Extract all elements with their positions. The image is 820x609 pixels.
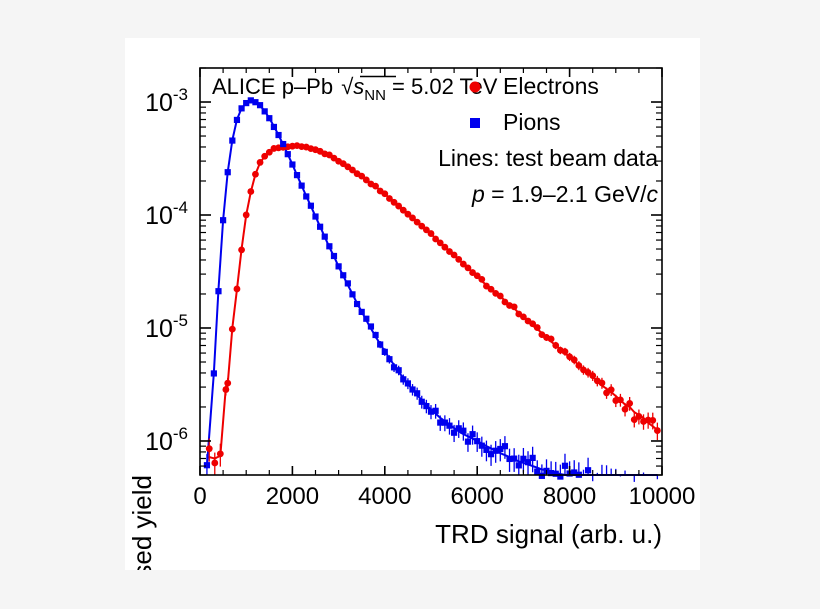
y-tick-exponent: -3 — [173, 85, 188, 104]
x-tick-label: 0 — [193, 483, 206, 510]
data-point — [349, 291, 355, 297]
data-point — [511, 456, 517, 462]
data-point — [414, 390, 420, 396]
x-tick-label: 2000 — [266, 483, 319, 510]
data-point — [363, 316, 369, 322]
data-point — [299, 183, 305, 189]
data-point — [243, 212, 250, 219]
data-point — [354, 301, 360, 307]
data-point — [247, 188, 254, 195]
data-point — [312, 213, 318, 219]
data-point — [516, 462, 522, 468]
data-point — [585, 467, 591, 473]
data-point — [217, 450, 224, 457]
x-tick-label: 8000 — [543, 483, 596, 510]
legend-marker-pions — [470, 118, 480, 128]
data-point — [608, 386, 615, 393]
x-tick-label: 10000 — [629, 483, 696, 510]
data-point — [423, 403, 429, 409]
energy-text: = 5.02 TeV — [386, 74, 498, 99]
lines-note: Lines: test beam data — [438, 145, 658, 171]
x-tick-label: 6000 — [451, 483, 504, 510]
y-tick-exponent: -6 — [173, 424, 188, 443]
y-tick-label: 10-3 — [145, 85, 188, 117]
data-point — [262, 108, 268, 114]
data-point — [229, 137, 235, 143]
figure-root: 020004000600080001000010-310-410-510-6TR… — [0, 0, 820, 609]
data-point — [622, 406, 629, 413]
data-point — [530, 455, 536, 461]
y-tick-label: 10-5 — [145, 311, 188, 343]
data-point — [326, 243, 332, 249]
data-point — [589, 372, 596, 379]
data-point — [266, 115, 272, 121]
chart-svg: 020004000600080001000010-310-410-510-6TR… — [125, 38, 700, 570]
data-point — [289, 161, 295, 167]
data-point — [377, 341, 383, 347]
data-point — [562, 348, 569, 355]
data-point — [372, 332, 378, 338]
data-point — [220, 217, 226, 223]
momentum-note: p = 1.9–2.1 GeV/c — [471, 181, 659, 207]
s-symbol: s — [353, 74, 364, 99]
data-point — [224, 380, 231, 387]
data-point — [234, 117, 240, 123]
s-subscript: NN — [364, 87, 386, 104]
data-point — [359, 309, 365, 315]
data-point — [368, 323, 374, 329]
y-axis-title: Normalised yield — [127, 475, 157, 570]
data-point — [234, 286, 241, 293]
data-point — [345, 280, 351, 286]
system-label-text: ALICE p–Pb — [212, 74, 339, 99]
y-tick-label: 10-4 — [145, 198, 188, 230]
data-point — [465, 439, 471, 445]
y-tick-exponent: -5 — [173, 311, 188, 330]
data-point — [649, 417, 656, 424]
data-point — [340, 272, 346, 278]
momentum-symbol: p — [471, 181, 485, 207]
data-point — [317, 224, 323, 230]
legend-label-pions: Pions — [503, 109, 561, 135]
data-point — [215, 288, 221, 294]
data-point — [252, 171, 259, 178]
data-point — [571, 356, 578, 363]
data-point — [548, 336, 555, 343]
data-point — [322, 234, 328, 240]
data-point — [599, 380, 606, 387]
data-point — [405, 380, 411, 386]
data-point — [336, 263, 342, 269]
data-point — [294, 172, 300, 178]
data-point — [617, 396, 624, 403]
data-point — [225, 169, 231, 175]
data-point — [206, 445, 213, 452]
data-point — [285, 151, 291, 157]
data-point — [636, 413, 643, 420]
data-point — [280, 141, 286, 147]
data-point — [497, 293, 504, 300]
legend-marker-electrons — [470, 82, 481, 93]
data-point — [428, 230, 435, 237]
data-point — [511, 303, 518, 310]
data-point — [502, 443, 508, 449]
momentum-unit: c — [647, 181, 659, 207]
data-point — [204, 462, 210, 468]
data-point — [308, 203, 314, 209]
data-point — [460, 428, 466, 434]
data-point — [478, 276, 485, 283]
data-point — [626, 400, 633, 407]
data-point — [386, 356, 392, 362]
momentum-value: = 1.9–2.1 GeV/ — [485, 181, 647, 207]
sqrt-icon: √ — [341, 74, 354, 99]
data-point — [257, 159, 264, 166]
data-point — [331, 253, 337, 259]
data-point — [275, 132, 281, 138]
data-point — [303, 193, 309, 199]
y-tick-label: 10-6 — [145, 424, 188, 456]
data-point — [534, 324, 541, 331]
data-point — [238, 246, 245, 253]
x-tick-label: 4000 — [358, 483, 411, 510]
data-point — [469, 431, 475, 437]
data-point — [211, 370, 217, 376]
data-point — [271, 124, 277, 130]
plot-canvas: 020004000600080001000010-310-410-510-6TR… — [125, 38, 700, 570]
text-layer: 020004000600080001000010-310-410-510-6TR… — [127, 73, 695, 570]
data-point — [562, 463, 568, 469]
legend-label-electrons: Electrons — [503, 73, 599, 99]
y-tick-exponent: -4 — [173, 198, 188, 217]
data-point — [229, 326, 236, 333]
data-point — [396, 367, 402, 373]
x-axis-title: TRD signal (arb. u.) — [435, 519, 662, 549]
data-point — [446, 423, 452, 429]
data-point — [654, 427, 661, 434]
data-point — [211, 460, 218, 467]
data-point — [433, 408, 439, 414]
data-point — [382, 349, 388, 355]
data-point — [257, 102, 263, 108]
